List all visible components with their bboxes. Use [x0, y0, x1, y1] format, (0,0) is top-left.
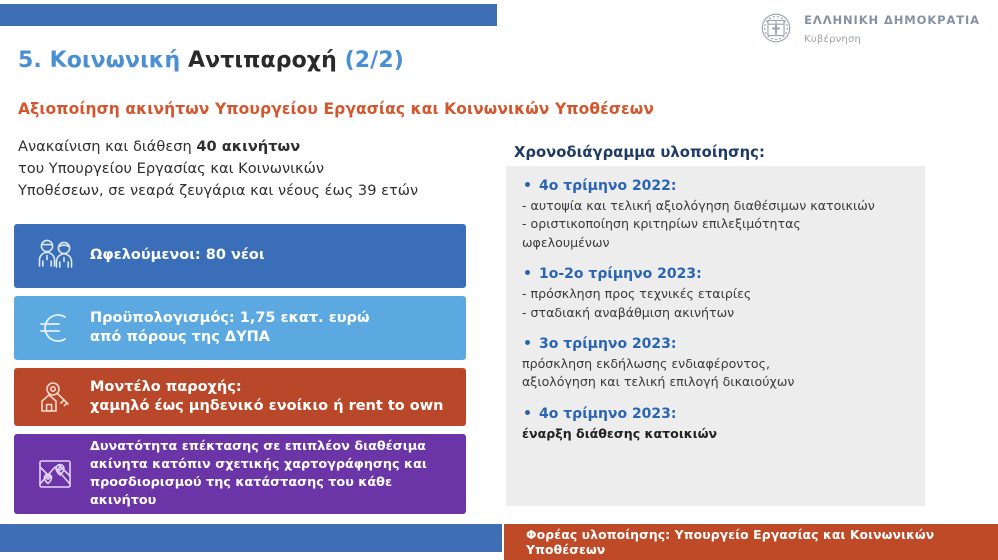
footer-accent-bar	[0, 524, 502, 552]
euro-sign-icon	[24, 303, 86, 353]
feature-box-list: Ωφελούμενοι: 80 νέοι Προϋπολογισμός: 1,7…	[14, 224, 466, 522]
timeline-detail: πρόσκληση εκδήλωσης ενδιαφέροντος,	[522, 355, 909, 373]
intro-paragraph: Ανακαίνιση και διάθεση 40 ακινήτων του Υ…	[18, 136, 488, 203]
feature-line: χαμηλό έως μηδενικό ενοίκιο ή rent to ow…	[90, 398, 443, 414]
timeline-item: 3ο τρίμηνο 2023: πρόσκληση εκδήλωσης ενδ…	[522, 336, 909, 392]
title-word-dark: Αντιπαροχή	[188, 48, 337, 73]
timeline-item-header: 3ο τρίμηνο 2023:	[522, 336, 909, 352]
feature-line: προσδιορισμού της κατάστασης του κάθε ακ…	[90, 475, 392, 508]
logo-line-1: ΕΛΛΗΝΙΚΗ ΔΗΜΟΚΡΑΤΙΑ	[804, 13, 980, 27]
feature-line: Μοντέλο παροχής:	[90, 379, 242, 395]
feature-line: Ωφελούμενοι: 80 νέοι	[90, 247, 265, 263]
timeline-list: 4ο τρίμηνο 2022: - αυτοψία και τελική αξ…	[506, 166, 925, 443]
intro-line-1a: Ανακαίνιση και διάθεση	[18, 138, 196, 155]
feature-line: Προϋπολογισμός: 1,75 εκατ. ευρώ	[90, 310, 370, 326]
intro-line-3: Υποθέσεων, σε νεαρά ζευγάρια και νέους έ…	[18, 182, 418, 199]
timeline-detail: - οριστικοποίηση κριτηρίων επιλεξιμότητα…	[522, 215, 909, 233]
feature-line: από πόρους της ΔΥΠΑ	[90, 329, 270, 345]
timeline-detail: έναρξη διάθεσης κατοικιών	[522, 425, 909, 443]
intro-line-1b: 40 ακινήτων	[196, 138, 300, 155]
logo-text-block: ΕΛΛΗΝΙΚΗ ΔΗΜΟΚΡΑΤΙΑ Κυβέρνηση	[804, 10, 980, 47]
timeline-detail: - σταδιακή αναβάθμιση ακινήτων	[522, 304, 909, 322]
bullet-icon	[525, 182, 530, 187]
page-subtitle: Αξιοποίηση ακινήτων Υπουργείου Εργασίας …	[18, 100, 654, 118]
footer-bar: Φορέας υλοποίησης: Υπουργείο Εργασίας κα…	[504, 524, 998, 560]
timeline-period: 1ο-2ο τρίμηνο 2023:	[539, 266, 702, 282]
feature-line: ακίνητα κατόπιν σχετικής χαρτογράφησης κ…	[90, 457, 427, 472]
feature-box-expansion: Δυνατότητα επέκτασης σε επιπλέον διαθέσι…	[14, 434, 466, 514]
greek-republic-coat-of-arms-icon	[757, 9, 795, 47]
feature-box-beneficiaries: Ωφελούμενοι: 80 νέοι	[14, 224, 466, 288]
feature-box-budget-text: Προϋπολογισμός: 1,75 εκατ. ευρώ από πόρο…	[86, 309, 370, 347]
timeline-item: 4ο τρίμηνο 2022: - αυτοψία και τελική αξ…	[522, 178, 909, 252]
title-number: 5.	[18, 48, 42, 73]
timeline-item-header: 1ο-2ο τρίμηνο 2023:	[522, 266, 909, 282]
logo-line-2: Κυβέρνηση	[804, 34, 861, 45]
page-title: 5. Κοινωνική Αντιπαροχή (2/2)	[18, 48, 404, 73]
intro-line-2: του Υπουργείου Εργασίας και Κοινωνικών	[18, 160, 324, 177]
government-logo: ΕΛΛΗΝΙΚΗ ΔΗΜΟΚΡΑΤΙΑ Κυβέρνηση	[757, 9, 980, 47]
timeline-period: 3ο τρίμηνο 2023:	[539, 336, 677, 352]
footer-text: Φορέας υλοποίησης: Υπουργείο Εργασίας κα…	[504, 527, 998, 557]
timeline-title: Χρονοδιάγραμμα υλοποίησης:	[514, 144, 765, 161]
map-pins-icon	[24, 449, 86, 499]
title-word-blue-1: Κοινωνική	[50, 48, 181, 73]
timeline-item: 1ο-2ο τρίμηνο 2023: - πρόσκληση προς τεχ…	[522, 266, 909, 322]
feature-box-beneficiaries-text: Ωφελούμενοι: 80 νέοι	[86, 246, 265, 265]
bullet-icon	[525, 340, 530, 345]
timeline-period: 4ο τρίμηνο 2023:	[539, 406, 677, 422]
timeline-detail: ωφελουμένων	[522, 234, 909, 252]
top-accent-bar	[0, 4, 497, 26]
timeline-detail: αξιολόγηση και τελική επιλογή δικαιούχων	[522, 373, 909, 391]
timeline-item: 4ο τρίμηνο 2023: έναρξη διάθεσης κατοικι…	[522, 406, 909, 443]
feature-box-expansion-text: Δυνατότητα επέκτασης σε επιπλέον διαθέσι…	[86, 438, 456, 511]
timeline-period: 4ο τρίμηνο 2022:	[539, 178, 677, 194]
slide-root: ΕΛΛΗΝΙΚΗ ΔΗΜΟΚΡΑΤΙΑ Κυβέρνηση 5. Κοινωνι…	[0, 0, 998, 560]
bullet-icon	[525, 410, 530, 415]
feature-box-budget: Προϋπολογισμός: 1,75 εκατ. ευρώ από πόρο…	[14, 296, 466, 360]
feature-box-model: Μοντέλο παροχής: χαμηλό έως μηδενικό ενο…	[14, 368, 466, 426]
title-pagination: (2/2)	[345, 48, 404, 73]
two-people-icon	[24, 231, 86, 281]
timeline-detail: - αυτοψία και τελική αξιολόγηση διαθέσιμ…	[522, 197, 909, 215]
timeline-item-header: 4ο τρίμηνο 2023:	[522, 406, 909, 422]
timeline-detail: - πρόσκληση προς τεχνικές εταιρίες	[522, 285, 909, 303]
feature-box-model-text: Μοντέλο παροχής: χαμηλό έως μηδενικό ενο…	[86, 378, 443, 416]
bullet-icon	[525, 270, 530, 275]
timeline-item-header: 4ο τρίμηνο 2022:	[522, 178, 909, 194]
house-key-icon	[24, 372, 86, 422]
timeline-panel: 4ο τρίμηνο 2022: - αυτοψία και τελική αξ…	[506, 166, 925, 506]
feature-line: Δυνατότητα επέκτασης σε επιπλέον διαθέσι…	[90, 439, 426, 454]
